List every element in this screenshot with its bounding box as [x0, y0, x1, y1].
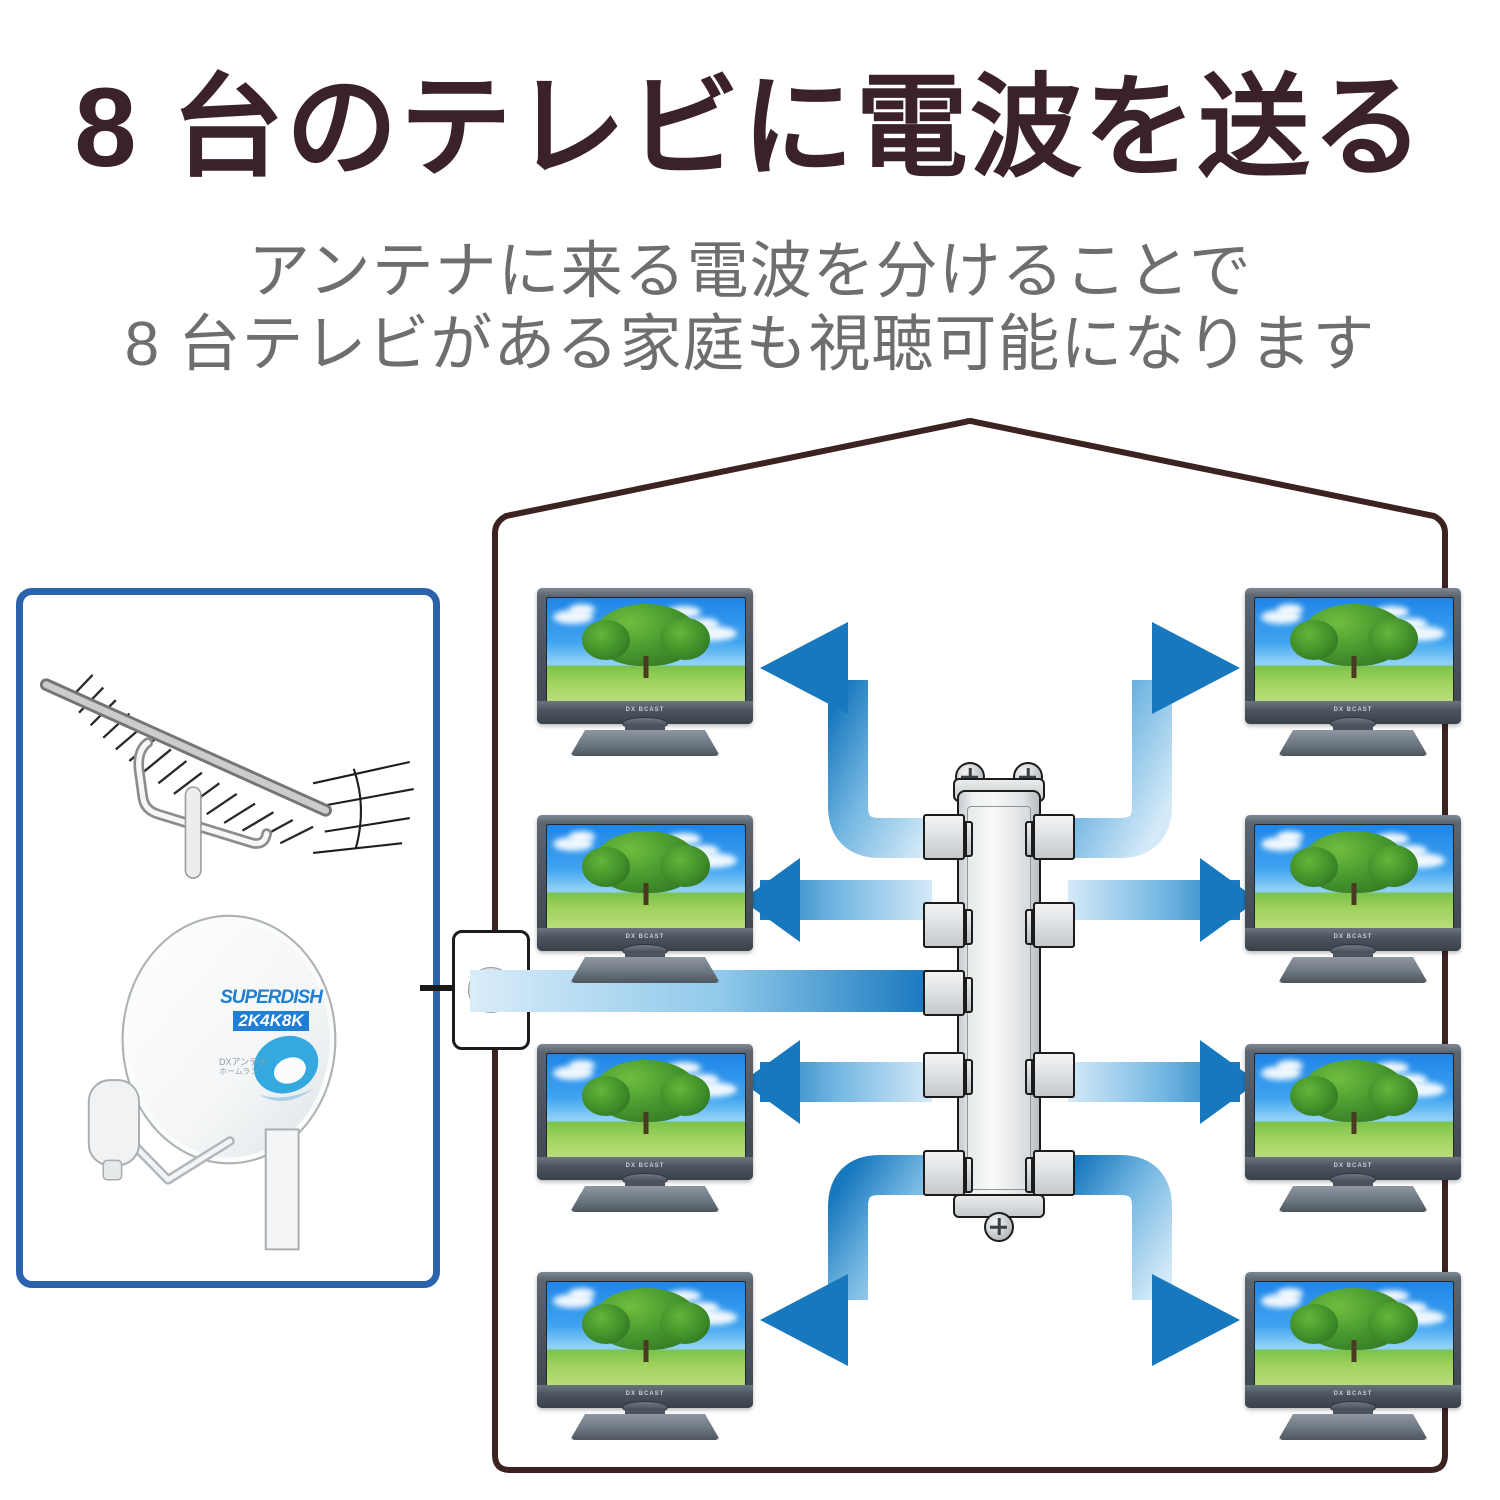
tv-screen: [1254, 1281, 1454, 1387]
tv-brand-logo: DX BCAST: [1334, 707, 1373, 713]
tv-screen: [546, 824, 746, 930]
satellite-dish: [89, 916, 336, 1250]
tv-brand-logo: DX BCAST: [1334, 934, 1373, 940]
antenna-and-dish-drawing: [23, 595, 433, 1281]
tv-frame: DX BCAST: [537, 1272, 753, 1408]
tv-bottom-left: DX BCAST: [537, 1272, 753, 1442]
port-right-1: [1033, 814, 1075, 860]
tv-screen: [546, 597, 746, 703]
antenna-splitter-device: [925, 752, 1073, 1244]
port-left-1: [923, 814, 965, 860]
tv-bottom-bezel: DX BCAST: [537, 1157, 753, 1180]
port-right-3: [1033, 1052, 1075, 1098]
tv-brand-logo: DX BCAST: [626, 707, 665, 713]
tv-stand-base: [570, 957, 720, 983]
tree-trunk: [644, 656, 649, 678]
dish-brand-text: SUPERDISH: [206, 987, 336, 1009]
port-left-4: [923, 1150, 965, 1196]
tv-stand-base: [1278, 1414, 1428, 1440]
tv-stand-base: [1278, 1186, 1428, 1212]
tv-screen: [1254, 597, 1454, 703]
tv-brand-logo: DX BCAST: [1334, 1163, 1373, 1169]
tv-frame: DX BCAST: [537, 1044, 753, 1180]
tv-frame: DX BCAST: [1245, 1044, 1461, 1180]
tv-bottom-bezel: DX BCAST: [1245, 928, 1461, 951]
tv-stand-base: [570, 1414, 720, 1440]
tv-frame: DX BCAST: [1245, 588, 1461, 724]
tv-stand-base: [1278, 957, 1428, 983]
port-left-input: [923, 970, 965, 1016]
subtitle-line-1: アンテナに来る電波を分けることで: [0, 235, 1500, 308]
port-right-2: [1033, 902, 1075, 948]
tv-stand-base: [1278, 730, 1428, 756]
tv-bottom-bezel: DX BCAST: [1245, 701, 1461, 724]
antenna-reference-panel: SUPERDISH 2K4K8K DXアンテナ ホームラン: [16, 588, 440, 1288]
dish-lnb: [89, 1080, 139, 1165]
illustration-stage: 8 台のテレビに電波を送る アンテナに来る電波を分けることで 8 台テレビがある…: [0, 0, 1500, 1500]
subtitle-line-2: 8 台テレビがある家庭も視聴可能になります: [0, 308, 1500, 381]
tv-brand-logo: DX BCAST: [626, 934, 665, 940]
tv-bottom-bezel: DX BCAST: [537, 1385, 753, 1408]
dish-maker-block: DXアンテナ ホームラン: [219, 1057, 311, 1077]
page-title: 8 台のテレビに電波を送る: [0, 72, 1500, 184]
tv-brand-logo: DX BCAST: [1334, 1391, 1373, 1397]
antenna-mast: [185, 787, 200, 878]
tv-screen: [546, 1053, 746, 1159]
port-left-2: [923, 902, 965, 948]
tree-trunk: [644, 883, 649, 905]
tv-frame: DX BCAST: [537, 588, 753, 724]
tree-trunk: [1352, 1112, 1357, 1134]
dish-mast: [266, 1129, 299, 1249]
tv-screen: [1254, 1053, 1454, 1159]
tv-bottom-bezel: DX BCAST: [537, 928, 753, 951]
coax-connector-icon: [468, 967, 514, 1013]
tv-stand-base: [570, 1186, 720, 1212]
tv-mid-upper-right: DX BCAST: [1245, 815, 1461, 985]
tv-bottom-bezel: DX BCAST: [1245, 1385, 1461, 1408]
port-right-4: [1033, 1150, 1075, 1196]
dish-maker-line-2: ホームラン: [219, 1067, 311, 1076]
splitter-label-plate: [967, 806, 1031, 1190]
tree-trunk: [644, 1112, 649, 1134]
port-left-3: [923, 1052, 965, 1098]
tv-mid-lower-right: DX BCAST: [1245, 1044, 1461, 1214]
screw-icon-bottom: [984, 1212, 1014, 1242]
tv-frame: DX BCAST: [537, 815, 753, 951]
tv-bottom-bezel: DX BCAST: [1245, 1157, 1461, 1180]
tv-brand-logo: DX BCAST: [626, 1391, 665, 1397]
tree-trunk: [1352, 1340, 1357, 1362]
page-subtitle: アンテナに来る電波を分けることで 8 台テレビがある家庭も視聴可能になります: [0, 235, 1500, 381]
tv-screen: [546, 1281, 746, 1387]
dish-brand-block: SUPERDISH 2K4K8K: [206, 987, 336, 1031]
tv-mid-upper-left: DX BCAST: [537, 815, 753, 985]
tv-top-right: DX BCAST: [1245, 588, 1461, 758]
wall-outlet-box: [452, 930, 530, 1050]
tv-stand-base: [570, 730, 720, 756]
tree-trunk: [1352, 883, 1357, 905]
tv-top-left: DX BCAST: [537, 588, 753, 758]
tv-brand-logo: DX BCAST: [626, 1163, 665, 1169]
tv-frame: DX BCAST: [1245, 815, 1461, 951]
tv-frame: DX BCAST: [1245, 1272, 1461, 1408]
tree-trunk: [1352, 656, 1357, 678]
tree-trunk: [644, 1340, 649, 1362]
dish-badge-text: 2K4K8K: [233, 1011, 308, 1031]
tv-mid-lower-left: DX BCAST: [537, 1044, 753, 1214]
tv-screen: [1254, 824, 1454, 930]
tv-bottom-bezel: DX BCAST: [537, 701, 753, 724]
dish-maker-line-1: DXアンテナ: [219, 1057, 311, 1067]
tv-bottom-right: DX BCAST: [1245, 1272, 1461, 1442]
